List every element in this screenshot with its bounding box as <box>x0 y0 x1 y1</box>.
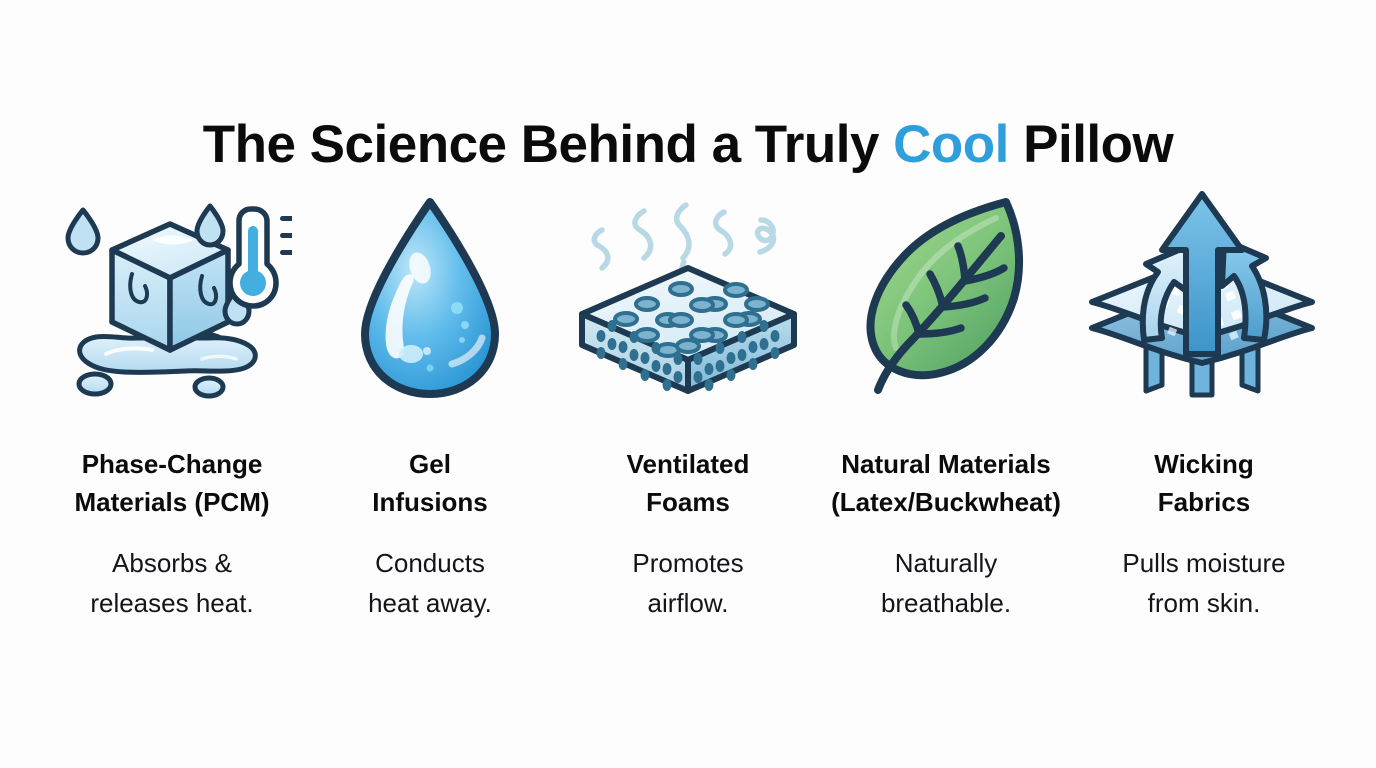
feature-title: Ventilated Foams <box>548 445 828 521</box>
infographic-root: The Science Behind a Truly Cool Pillow <box>0 0 1376 768</box>
thermometer-tick-1 <box>280 216 292 221</box>
thermometer-tick-2 <box>280 233 292 238</box>
thermometer-tick-3 <box>280 250 292 255</box>
melting-ice-cube-thermometer-icon <box>52 188 292 403</box>
droplet-bubble-5 <box>423 347 431 355</box>
page-title: The Science Behind a Truly Cool Pillow <box>203 114 1174 176</box>
page-title-part1: The Science Behind a Truly <box>203 115 893 174</box>
title-container: The Science Behind a Truly Cool Pillow <box>0 78 1376 148</box>
feature-title: Natural Materials (Latex/Buckwheat) <box>806 445 1086 521</box>
feature-column-gel: Gel Infusions Conducts heat away. <box>301 188 559 623</box>
falling-droplet-2 <box>197 206 223 245</box>
feature-description: Absorbs & releases heat. <box>47 543 297 623</box>
feature-title: Gel Infusions <box>290 445 570 521</box>
airflow-lines <box>594 205 773 268</box>
puddle-drop-right <box>195 378 223 396</box>
feature-description: Conducts heat away. <box>305 543 555 623</box>
droplet-bubble-1 <box>451 302 463 314</box>
droplet-bubble-2 <box>461 321 469 329</box>
wicking-fabric-arrows-icon <box>1084 188 1324 403</box>
feature-column-natural: Natural Materials (Latex/Buckwheat) Natu… <box>817 188 1075 623</box>
feature-description: Naturally breathable. <box>821 543 1071 623</box>
page-title-part2: Pillow <box>1009 115 1173 174</box>
feature-description: Promotes airflow. <box>563 543 813 623</box>
feature-description: Pulls moisture from skin. <box>1079 543 1329 623</box>
puddle-drop-left <box>79 374 111 394</box>
page-title-accent: Cool <box>893 115 1009 174</box>
feature-title: Wicking Fabrics <box>1064 445 1344 521</box>
feature-title: Phase-Change Materials (PCM) <box>32 445 312 521</box>
leaf-blade <box>871 202 1020 375</box>
droplet-bubble-3 <box>459 337 465 343</box>
droplet-bubble-6 <box>427 365 434 372</box>
ventilated-foam-block-icon <box>568 188 808 403</box>
feature-column-foam: Ventilated Foams Promotes airflow. <box>559 188 817 623</box>
thermometer-mercury <box>248 226 258 278</box>
thermometer-icon <box>230 209 292 306</box>
droplet-bubble-4 <box>399 345 423 363</box>
water-droplet-icon <box>310 188 550 403</box>
feature-column-wicking: Wicking Fabrics Pulls moisture from skin… <box>1075 188 1333 623</box>
feature-columns: Phase-Change Materials (PCM) Absorbs & r… <box>0 188 1376 623</box>
leaf-icon <box>826 188 1066 403</box>
feature-column-pcm: Phase-Change Materials (PCM) Absorbs & r… <box>43 188 301 623</box>
falling-droplet-1 <box>68 210 98 253</box>
